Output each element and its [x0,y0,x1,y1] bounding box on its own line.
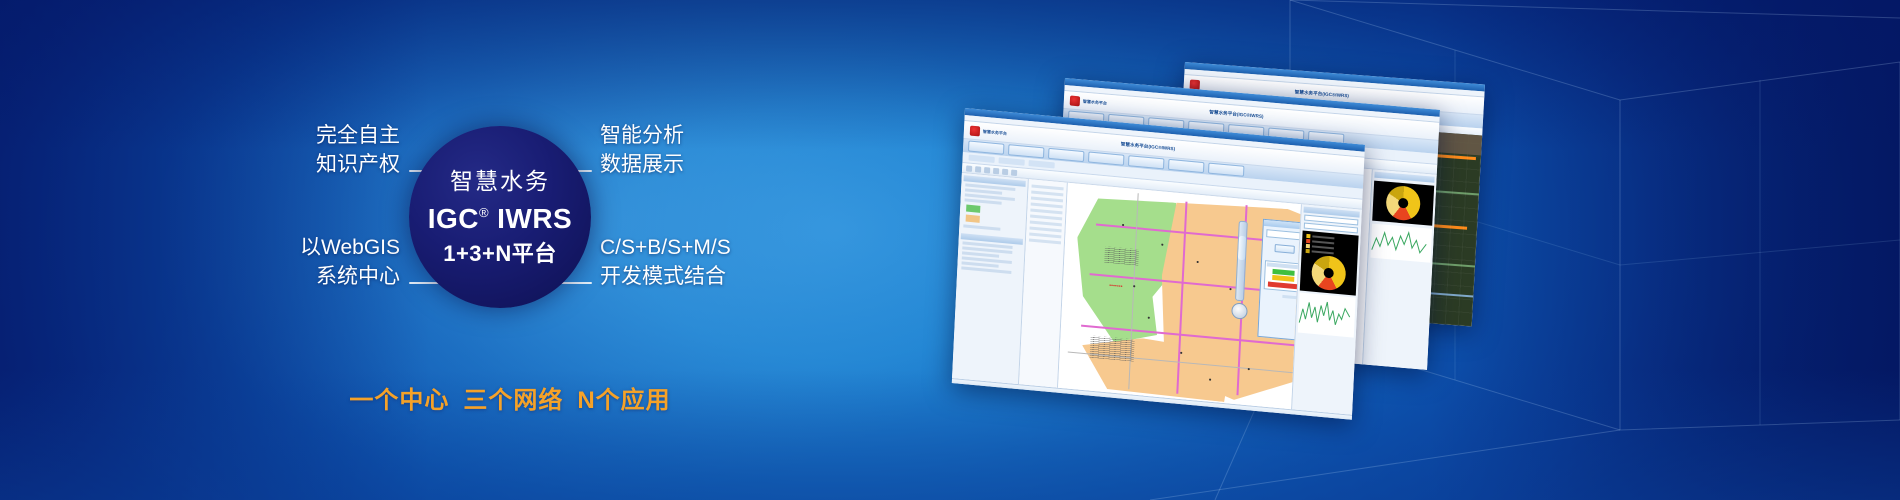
feature-line-2: 开发模式结合 [600,263,731,292]
hero-banner: 智慧水务平台(IGC®IWRS) [0,0,1900,500]
feature-line-2: 知识产权 [205,151,400,180]
feature-top-right: 智能分析 数据展示 [600,122,684,180]
hub-circle: 智慧水务 IGC®IWRS 1+3+N平台 [409,126,591,308]
window-body: ●●●●●●● [952,173,1362,415]
attr-row [961,266,1011,274]
tool-row[interactable] [1030,220,1062,226]
hub-product-main: IGC [428,205,479,233]
tagline-part-3: N个应用 [577,387,670,414]
toolbar-icon[interactable] [984,167,990,174]
feature-line-1: C/S+B/S+M/S [600,234,731,263]
hub-title: 智慧水务 [450,170,550,193]
feature-bottom-left: 以WebGIS 系统中心 [205,234,400,292]
toolbar-icon[interactable] [966,165,972,172]
donut-chart [1385,185,1421,222]
hub-platform: 1+3+N平台 [443,243,557,265]
subnav-tab[interactable] [999,157,1025,165]
donut-chart-container [1300,230,1359,295]
tagline-part-1: 一个中心 [349,387,449,414]
monitor-panel [1291,204,1362,415]
tool-row[interactable] [1031,184,1063,190]
tool-row[interactable] [1029,238,1061,244]
app-title: 智慧水务平台(IGC®IWRS) [1209,109,1263,120]
valve-analysis-dialog[interactable] [1257,219,1301,344]
sparkline-chart [1370,224,1432,263]
map-hatch-area [1104,246,1139,265]
right-panel [1362,169,1437,370]
tagline: 一个中心三个网络N个应用 [300,380,720,415]
tool-row[interactable] [1030,214,1062,220]
tool-row[interactable] [1030,208,1062,214]
legend-swatch-orange [966,215,980,223]
toolbar-icon[interactable] [993,167,999,174]
tool-row[interactable] [1029,232,1061,238]
hub-product-suffix: IWRS [497,205,572,233]
donut-chart-container [1372,181,1434,226]
scrollbar-thumb[interactable] [1238,236,1246,261]
tool-row[interactable] [1031,196,1063,202]
sparkline-chart [1298,292,1356,337]
feature-line-1: 完全自主 [205,122,400,151]
legend-swatch-green [966,205,980,213]
info-graphic: 完全自主 知识产权 以WebGIS 系统中心 智能分析 数据展示 C/S+B/S… [0,0,820,500]
app-logo-icon [1070,95,1081,106]
registered-trademark-icon: ® [479,206,489,219]
feature-line-1: 智能分析 [600,122,684,151]
feature-line-1: 以WebGIS [205,234,400,263]
hub-product-name: IGC®IWRS [428,205,572,233]
tool-row[interactable] [1031,190,1063,196]
layer-tree-panel[interactable] [952,173,1029,384]
feature-bottom-right: C/S+B/S+M/S 开发模式结合 [600,234,731,292]
tagline-part-2: 三个网络 [463,387,563,414]
toolbar-icon[interactable] [1002,168,1008,175]
donut-chart [1311,254,1347,291]
dialog-analyze-button[interactable] [1274,244,1294,254]
brand-label: 智慧水务平台 [1083,98,1107,106]
toolbar-icon[interactable] [975,166,981,173]
app-logo-icon [970,125,980,136]
screenshot-back-window[interactable]: 智慧水务平台 智慧水务平台(IGC®IWRS) [952,108,1365,420]
feature-line-2: 数据展示 [600,151,684,180]
tree-item[interactable] [963,224,1000,230]
tool-row[interactable] [1029,226,1061,232]
dialog-result-table [1264,260,1301,295]
map-hatch-area [1090,336,1135,362]
toolbar-icon[interactable] [1011,169,1017,176]
feature-top-left: 完全自主 知识产权 [205,122,400,180]
subnav-tab[interactable] [1029,160,1055,168]
app-title: 智慧水务平台(IGC®IWRS) [1121,141,1175,152]
subnav-tab[interactable] [969,155,995,163]
gis-map-canvas[interactable]: ●●●●●●● [1058,183,1301,409]
brand-label: 智慧水务平台 [983,128,1007,136]
tool-row[interactable] [1031,202,1063,208]
feature-line-2: 系统中心 [205,263,400,292]
